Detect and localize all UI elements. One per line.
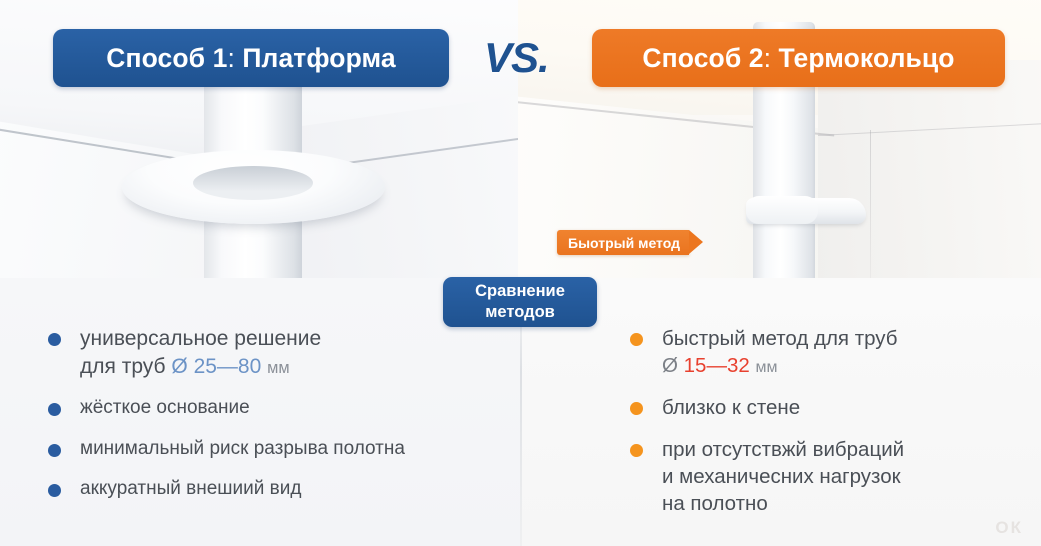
list-item-line1: при отсутствжй вибраций [662,438,904,461]
list-item: минимальный риск разрыва полотна [48,436,498,461]
list-item: близко к стене [630,394,1020,421]
list-item-text: аккуратный внешиий вид [80,478,301,499]
fast-method-tag: Быотрый метод [557,230,689,255]
list-item-line1: быстрый метод для труб [662,327,897,350]
watermark: ОК [995,518,1023,538]
fast-method-tag-label: Быотрый метод [568,235,680,251]
bullet-dot-icon [48,333,61,346]
diameter-unit: мм [267,359,290,377]
list-item-line1: универсальное решение [80,327,321,350]
bullet-dot-icon [48,484,61,497]
list-item: универсальное решение для труб Ø 25—80 м… [48,325,498,380]
wall-side-surface [818,60,1041,300]
banner-method-1-title: Платформа [242,43,395,74]
diameter-symbol-icon: Ø [662,354,678,377]
banner-method-2-separator: : [764,43,771,74]
bullet-dot-icon [48,444,61,457]
banner-method-1-prefix: Способ 1 [106,43,227,74]
thermo-ring-collar [746,196,818,224]
diameter-unit: мм [755,359,777,376]
comparison-badge-line1: Сравнение [475,281,565,302]
list-item-line2-prefix: для труб [80,355,171,378]
list-item: быстрый метод для труб Ø 15—32 мм [630,325,1020,379]
diameter-range: 15—32 [684,354,750,377]
vs-label: VS. [484,34,549,82]
banner-method-2-prefix: Способ 2 [642,43,763,74]
list-item: при отсутствжй вибраций и механичесних н… [630,436,1020,517]
list-item: жёсткое основание [48,395,498,420]
diameter-range: 25—80 [194,355,262,378]
infographic-canvas: Способ 1: Платформа VS. Способ 2: Термок… [0,0,1041,546]
wall-corner-line-right [870,130,871,300]
bullet-dot-icon [630,444,643,457]
bullet-dot-icon [48,403,61,416]
diameter-symbol-icon: Ø [171,355,187,378]
comparison-badge: Сравнение методов [443,277,597,327]
list-item-text: жёсткое основание [80,397,250,418]
list-item-text: минимальный риск разрыва полотна [80,438,405,459]
platform-disc-hole [193,166,313,200]
list-item-line3: на полотно [662,492,768,515]
bullet-dot-icon [630,333,643,346]
benefits-list-thermoring: быстрый метод для труб Ø 15—32 мм близко… [630,325,1020,532]
benefits-list-platform: универсальное решение для труб Ø 25—80 м… [48,325,498,516]
bullet-dot-icon [630,402,643,415]
banner-method-1: Способ 1: Платформа [53,29,449,87]
list-item-line2: и механичесних нагрузок [662,465,901,488]
comparison-badge-line2: методов [485,302,555,323]
banner-method-2-title: Термокольцо [779,43,955,74]
banner-method-2: Способ 2: Термокольцо [592,29,1005,87]
banner-method-1-separator: : [227,43,234,74]
list-item: аккуратный внешиий вид [48,476,498,501]
list-item-text: близко к стене [662,396,800,419]
